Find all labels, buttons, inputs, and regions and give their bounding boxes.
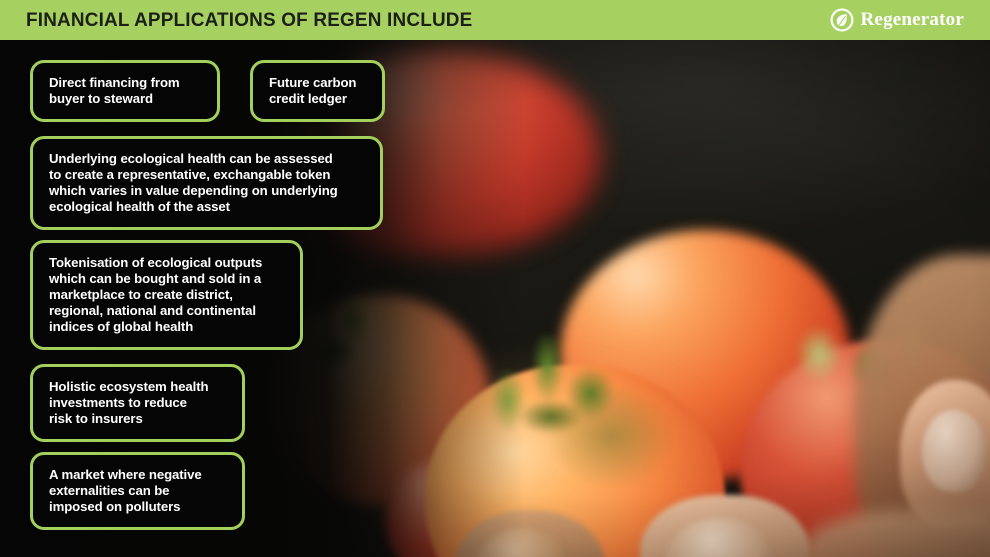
header-band: FINANCIAL APPLICATIONS OF REGEN INCLUDE … [0, 0, 990, 40]
page-title: FINANCIAL APPLICATIONS OF REGEN INCLUDE [26, 9, 472, 32]
brand-name: Regenerator [861, 9, 964, 31]
callout-box-ecosystem-health-investments[interactable]: Holistic ecosystem health investments to… [30, 364, 245, 442]
callout-box-future-carbon-ledger[interactable]: Future carbon credit ledger [250, 60, 385, 122]
callout-text: Direct financing from buyer to steward [49, 75, 203, 107]
callout-text: Tokenisation of ecological outputs which… [49, 255, 286, 335]
callout-box-tokenisation-marketplace[interactable]: Tokenisation of ecological outputs which… [30, 240, 303, 350]
callout-text: Underlying ecological health can be asse… [49, 151, 366, 215]
leaf-in-circle-logo [830, 8, 854, 32]
callout-text: Holistic ecosystem health investments to… [49, 379, 228, 427]
callout-list: Direct financing from buyer to steward F… [0, 40, 990, 557]
callout-text: Future carbon credit ledger [269, 75, 368, 107]
callout-box-negative-externalities-market[interactable]: A market where negative externalities ca… [30, 452, 245, 530]
callout-text: A market where negative externalities ca… [49, 467, 228, 515]
slide-root: FINANCIAL APPLICATIONS OF REGEN INCLUDE … [0, 0, 990, 557]
callout-box-direct-financing[interactable]: Direct financing from buyer to steward [30, 60, 220, 122]
brand-lockup: Regenerator [830, 8, 964, 32]
callout-box-ecological-health-token[interactable]: Underlying ecological health can be asse… [30, 136, 383, 230]
